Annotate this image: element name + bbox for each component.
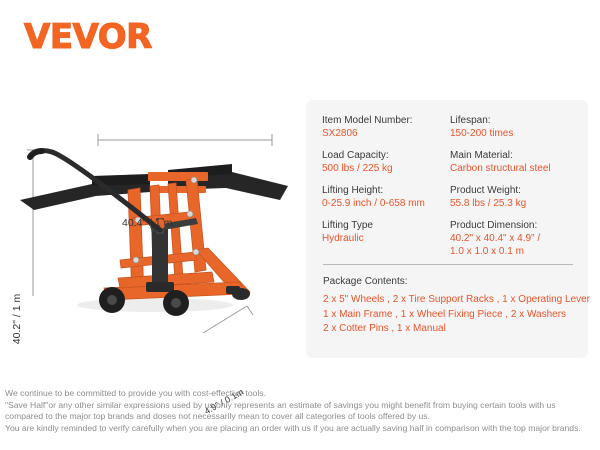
package-contents-title: Package Contents: [323, 275, 579, 289]
footer-line: You are kindly reminded to verify carefu… [5, 423, 597, 435]
spec-item-main-material: Main Material: Carbon structural steel [450, 149, 576, 175]
spec-label: Item Model Number: [322, 114, 448, 127]
footer-line: "Save Half"or any other similar expressi… [5, 400, 597, 412]
package-contents-block: Package Contents: 2 x 5" Wheels , 2 x Ti… [323, 275, 579, 337]
wheel-rear [163, 290, 189, 316]
product-illustration: 40.4" / 1 m 40.2" / 1 m 4.9" / 0.1m [0, 100, 300, 350]
vevor-logo: VEVOR [24, 20, 152, 54]
spec-value: Carbon structural steel [450, 162, 576, 175]
spec-label: Lifting Type [322, 219, 448, 232]
spec-item-product-dimension: Product Dimension: 40.2" x 40.4" x 4.9" … [450, 219, 576, 258]
spec-label: Lifespan: [450, 114, 576, 127]
package-contents-line: 1 x Main Frame , 1 x Wheel Fixing Piece … [323, 308, 579, 323]
specs-column-right: Lifespan: 150-200 times Main Material: C… [448, 114, 576, 267]
spec-item-load-capacity: Load Capacity: 500 lbs / 225 kg [322, 149, 448, 175]
dimension-width-label: 40.4" / 1 m [122, 217, 172, 229]
wheel-front [99, 287, 125, 313]
spec-value: SX2806 [322, 127, 448, 140]
specs-grid: Item Model Number: SX2806 Load Capacity:… [322, 114, 576, 267]
spec-value: 40.2" x 40.4" x 4.9" / 1.0 x 1.0 x 0.1 m [450, 232, 576, 258]
spec-value: Hydraulic [322, 232, 448, 245]
footer-line: compared to the major top brands and dos… [5, 411, 597, 423]
spec-label: Lifting Height: [322, 184, 448, 197]
specifications-panel: Item Model Number: SX2806 Load Capacity:… [306, 100, 588, 358]
spec-value: 55.8 lbs / 25.3 kg [450, 197, 576, 210]
spec-label: Product Dimension: [450, 219, 576, 232]
spec-item-model-number: Item Model Number: SX2806 [322, 114, 448, 140]
spec-item-lifting-type: Lifting Type Hydraulic [322, 219, 448, 245]
package-contents-line: 2 x Cotter Pins , 1 x Manual [323, 322, 579, 337]
spec-label: Load Capacity: [322, 149, 448, 162]
spec-item-product-weight: Product Weight: 55.8 lbs / 25.3 kg [450, 184, 576, 210]
lever-grip [30, 151, 42, 157]
spec-item-lifespan: Lifespan: 150-200 times [450, 114, 576, 140]
spec-value: 0-25.9 inch / 0-658 mm [322, 197, 448, 210]
main-frame [104, 179, 250, 300]
dimension-height-label: 40.2" / 1 m [11, 294, 23, 344]
footer-line: We continue to be committed to provide y… [5, 388, 597, 400]
spec-label: Main Material: [450, 149, 576, 162]
spec-label: Product Weight: [450, 184, 576, 197]
package-contents-line: 2 x 5" Wheels , 2 x Tire Support Racks ,… [323, 293, 579, 308]
footer-disclaimer: We continue to be committed to provide y… [5, 388, 597, 434]
spec-item-lifting-height: Lifting Height: 0-25.9 inch / 0-658 mm [322, 184, 448, 210]
specs-column-left: Item Model Number: SX2806 Load Capacity:… [322, 114, 448, 267]
spec-value: 500 lbs / 225 kg [322, 162, 448, 175]
spec-value: 150-200 times [450, 127, 576, 140]
section-divider [323, 264, 573, 265]
